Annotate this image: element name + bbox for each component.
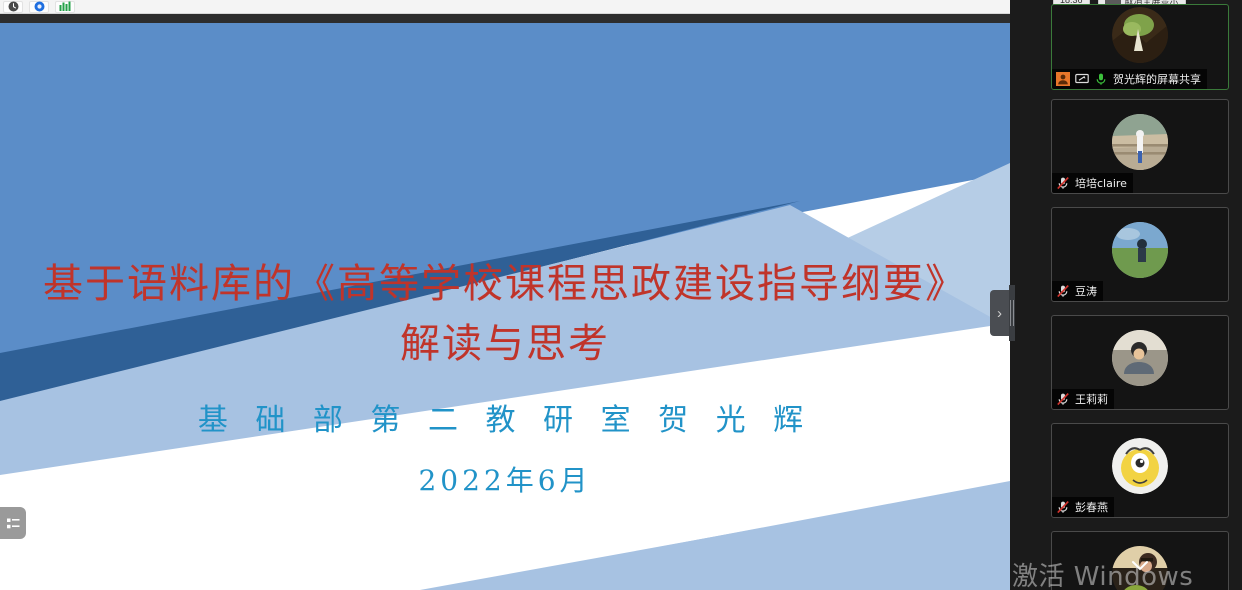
slide-title-line-2: 解读与思考: [400, 315, 610, 373]
shared-screen-stage[interactable]: 基于语料库的《高等学校课程思政建设指导纲要》 解读与思考 基 础 部 第 二 教…: [0, 23, 1010, 590]
avatar: [1112, 438, 1168, 494]
participant-name-bar-4: 彭春燕: [1052, 497, 1114, 517]
participant-name-bar-2: 豆涛: [1052, 281, 1103, 301]
microphone-muted-icon: [1056, 176, 1070, 190]
avatar: [1112, 7, 1168, 63]
microphone-muted-icon: [1056, 284, 1070, 298]
collapse-panel-button[interactable]: ›: [990, 290, 1009, 336]
participant-name-bar-0: 贺光辉的屏幕共享: [1052, 69, 1207, 89]
participant-rail[interactable]: 18:36 取消全屏显示: [1015, 0, 1242, 590]
avatar: [1112, 546, 1168, 590]
avatar: [1112, 114, 1168, 170]
microphone-icon: [1094, 72, 1108, 86]
slide-date: 2022年6月: [418, 459, 591, 499]
chevron-right-icon: ›: [997, 305, 1002, 322]
slide-text-block: 基于语料库的《高等学校课程思政建设指导纲要》 解读与思考 基 础 部 第 二 教…: [0, 23, 1010, 590]
participant-name-3: 王莉莉: [1075, 391, 1108, 407]
clock-icon[interactable]: [3, 1, 23, 13]
microphone-muted-icon: [1056, 500, 1070, 514]
participant-tile-5[interactable]: [1051, 531, 1229, 590]
participant-tile-0[interactable]: 贺光辉的屏幕共享: [1051, 4, 1229, 90]
avatar: [1112, 330, 1168, 386]
person-icon: [1056, 72, 1070, 86]
browser-chrome-strip: [0, 0, 1010, 14]
globe-icon[interactable]: [29, 1, 49, 13]
participant-name-2: 豆涛: [1075, 283, 1097, 299]
participant-tile-4[interactable]: 彭春燕: [1051, 423, 1229, 518]
participant-name-0: 贺光辉的屏幕共享: [1113, 71, 1201, 87]
participant-tile-2[interactable]: 豆涛: [1051, 207, 1229, 302]
avatar: [1112, 222, 1168, 278]
participant-tile-1[interactable]: 培培claire: [1051, 99, 1229, 194]
letterbox-band: [0, 14, 1010, 23]
app-root: 基于语料库的《高等学校课程思政建设指导纲要》 解读与思考 基 础 部 第 二 教…: [0, 0, 1242, 590]
microphone-muted-icon: [1056, 392, 1070, 406]
participant-name-4: 彭春燕: [1075, 499, 1108, 515]
participant-name-1: 培培claire: [1075, 175, 1127, 191]
participant-name-bar-3: 王莉莉: [1052, 389, 1114, 409]
list-icon[interactable]: [0, 507, 26, 539]
screen-share-icon: [1075, 72, 1089, 86]
participant-tile-3[interactable]: 王莉莉: [1051, 315, 1229, 410]
slide-title-line-1: 基于语料库的《高等学校课程思政建设指导纲要》: [43, 255, 967, 313]
slide-subtitle: 基 础 部 第 二 教 研 室 贺 光 辉: [198, 395, 812, 439]
participant-name-bar-1: 培培claire: [1052, 173, 1133, 193]
chart-icon[interactable]: [55, 1, 75, 13]
